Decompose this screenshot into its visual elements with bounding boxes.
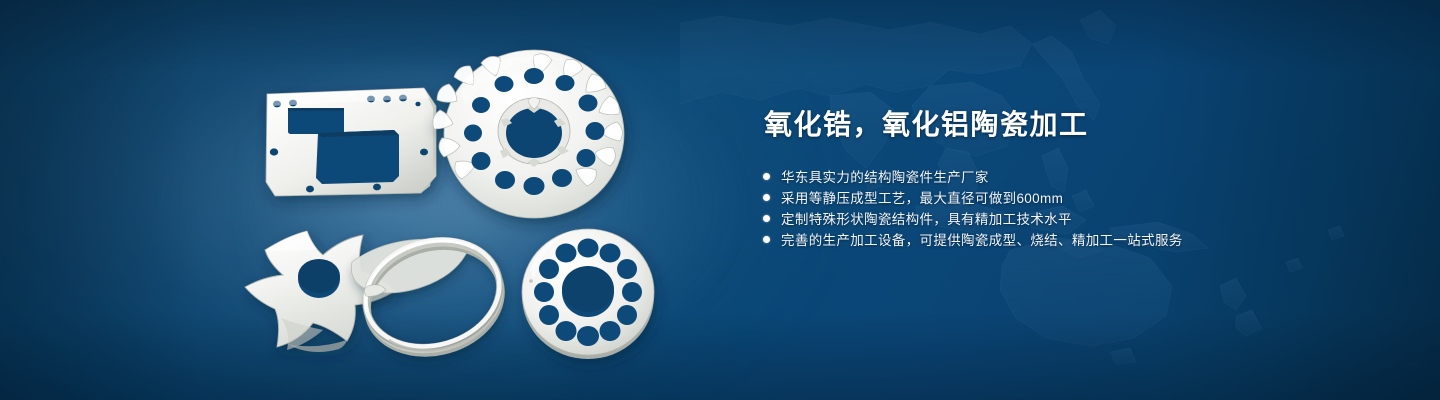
- page-title: 氧化锆，氧化铝陶瓷加工: [764, 108, 1383, 142]
- list-item-label: 华东具实力的结构陶瓷件生产厂家: [781, 166, 989, 186]
- list-item: 定制特殊形状陶瓷结构件，具有精加工技术水平: [763, 208, 1383, 229]
- feature-list: 华东具实力的结构陶瓷件生产厂家 采用等静压成型工艺，最大直径可做到600mm 定…: [763, 166, 1383, 250]
- product-ceramic-perforated-disc: [522, 229, 654, 359]
- product-ceramic-impeller: [433, 50, 624, 218]
- list-item-label: 定制特殊形状陶瓷结构件，具有精加工技术水平: [781, 208, 1072, 228]
- product-photo-group: [0, 0, 720, 400]
- list-item-label: 完善的生产加工设备，可提供陶瓷成型、烧结、精加工一站式服务: [781, 229, 1183, 249]
- hero-banner: 氧化锆，氧化铝陶瓷加工 华东具实力的结构陶瓷件生产厂家 采用等静压成型工艺，最大…: [0, 0, 1440, 400]
- bullet-circle-icon: [763, 215, 770, 222]
- product-ceramic-plate: [266, 88, 436, 196]
- bullet-circle-icon: [763, 236, 770, 243]
- list-item: 完善的生产加工设备，可提供陶瓷成型、烧结、精加工一站式服务: [763, 229, 1383, 250]
- list-item-label: 采用等静压成型工艺，最大直径可做到600mm: [781, 187, 1063, 207]
- bullet-circle-icon: [763, 194, 770, 201]
- list-item: 华东具实力的结构陶瓷件生产厂家: [763, 166, 1383, 187]
- bullet-circle-icon: [763, 173, 770, 180]
- list-item: 采用等静压成型工艺，最大直径可做到600mm: [763, 187, 1383, 208]
- banner-copy: 氧化锆，氧化铝陶瓷加工 华东具实力的结构陶瓷件生产厂家 采用等静压成型工艺，最大…: [763, 108, 1383, 250]
